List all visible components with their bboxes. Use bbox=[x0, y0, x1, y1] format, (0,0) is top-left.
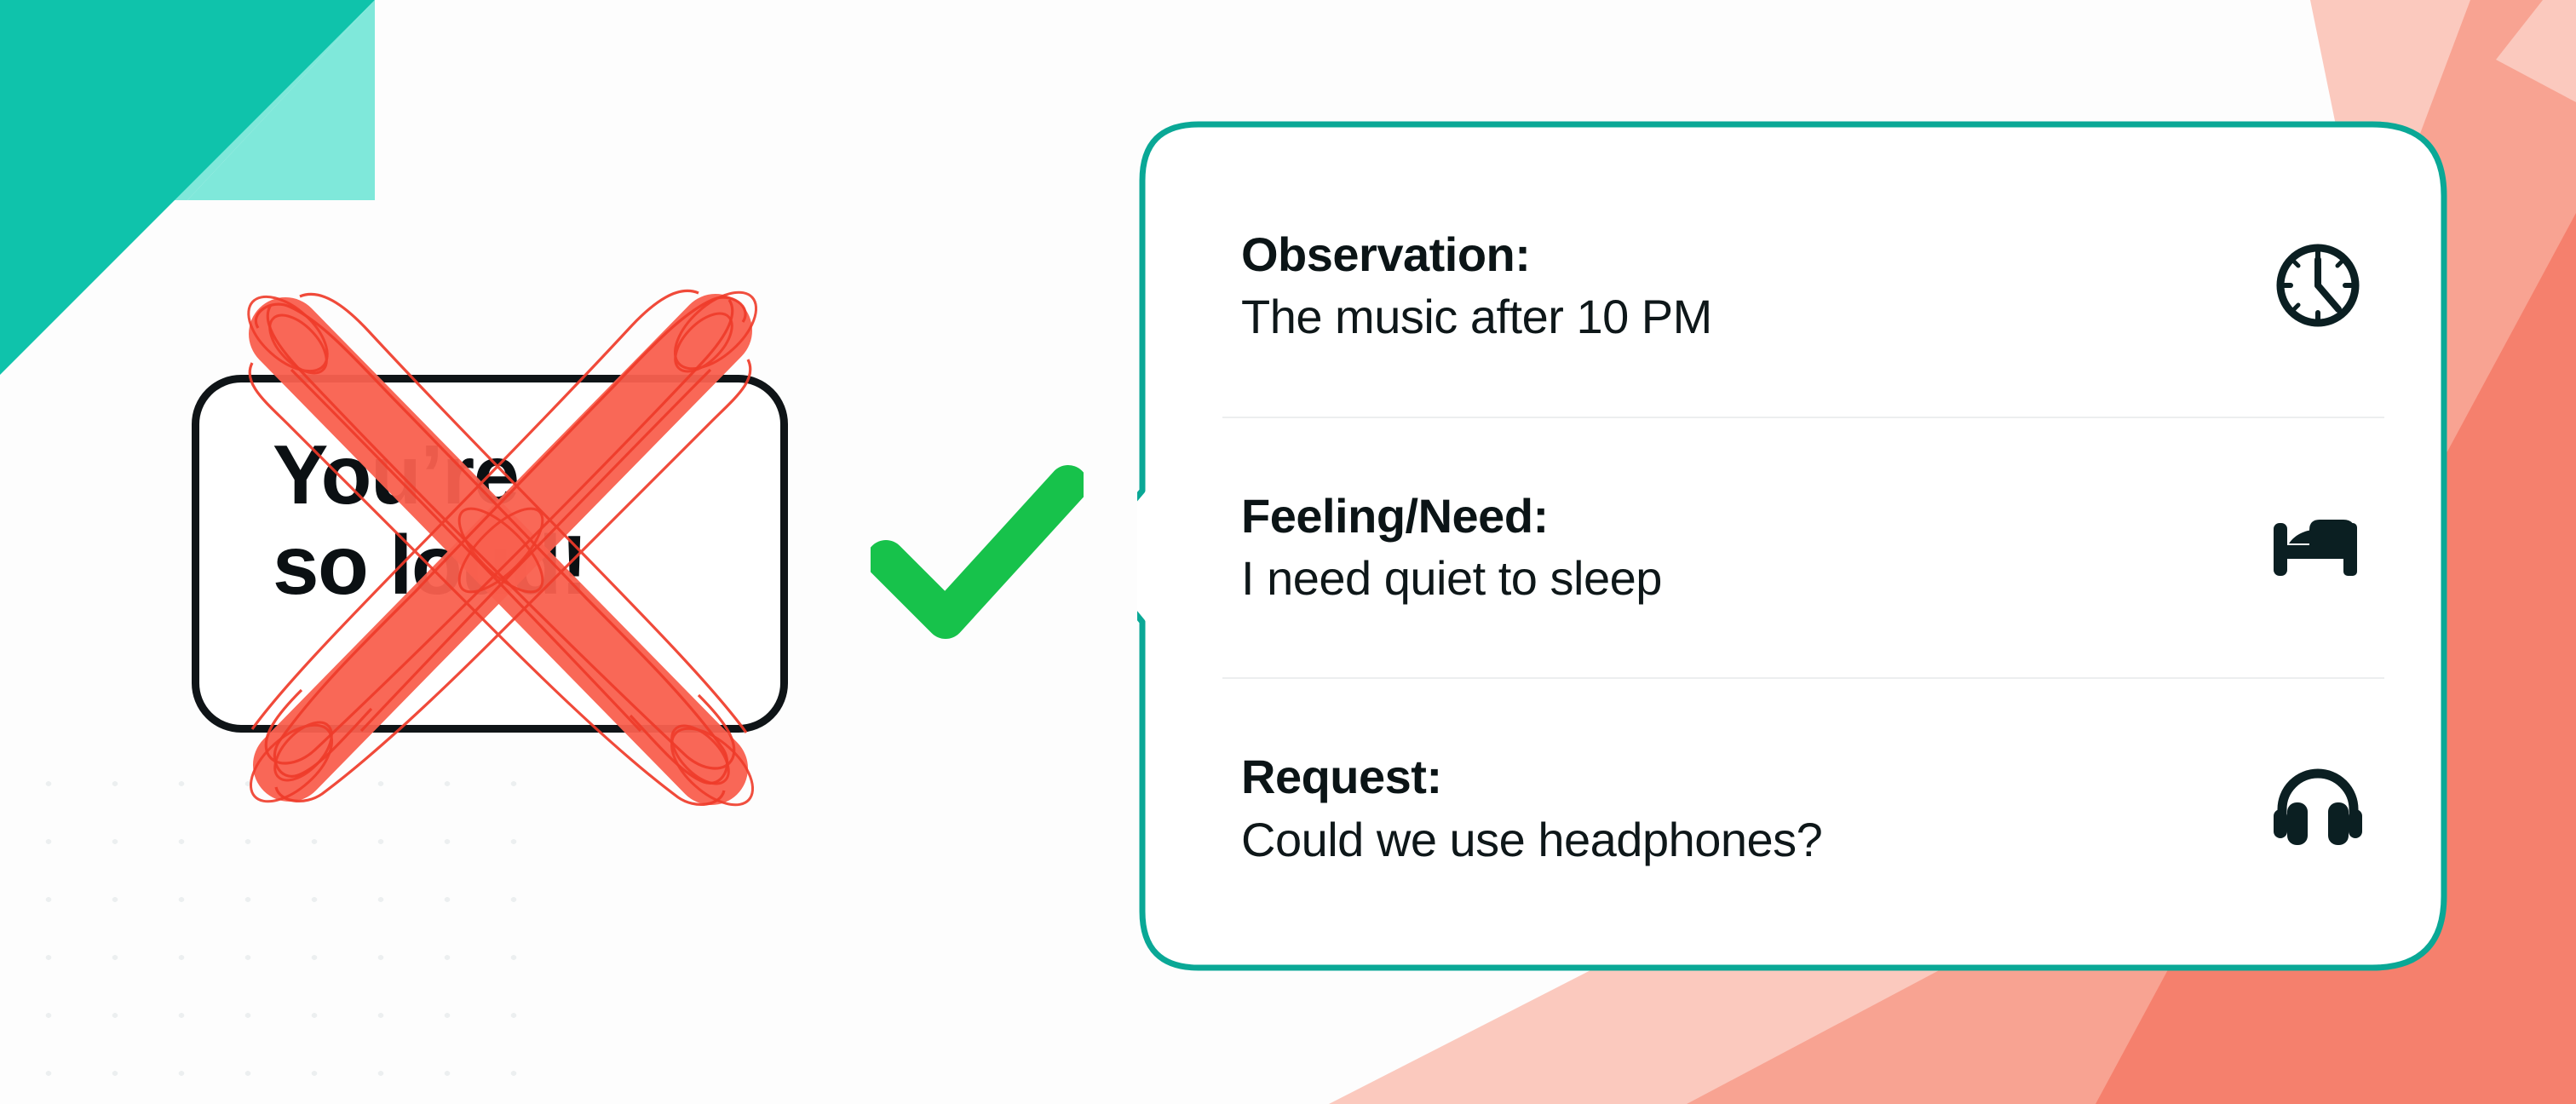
bad-example-block: You’re so loud! bbox=[170, 281, 818, 843]
feeling-need-label: Feeling/Need: bbox=[1241, 487, 1662, 544]
card-rows: Observation: The music after 10 PM bbox=[1205, 155, 2389, 939]
bad-speech-bubble-text: You’re so loud! bbox=[221, 430, 767, 611]
card-row-request: Request: Could we use headphones? bbox=[1205, 677, 2389, 939]
good-example-card: Observation: The music after 10 PM bbox=[1137, 119, 2449, 973]
infographic-canvas: You’re so loud! bbox=[0, 0, 2576, 1104]
green-check-icon bbox=[871, 464, 1084, 643]
row-text-request: Request: Could we use headphones? bbox=[1241, 748, 1822, 867]
request-label: Request: bbox=[1241, 748, 1822, 805]
row-text-feeling-need: Feeling/Need: I need quiet to sleep bbox=[1241, 487, 1662, 607]
clock-icon bbox=[2258, 238, 2378, 333]
row-text-observation: Observation: The music after 10 PM bbox=[1241, 226, 1712, 345]
bad-text-line-2: so loud! bbox=[273, 520, 767, 611]
headphones-icon bbox=[2258, 767, 2378, 850]
bed-icon bbox=[2258, 508, 2378, 586]
bad-text-line-1: You’re bbox=[273, 430, 767, 520]
observation-value: The music after 10 PM bbox=[1241, 288, 1712, 345]
card-row-feeling-need: Feeling/Need: I need quiet to sleep bbox=[1205, 417, 2389, 678]
card-row-observation: Observation: The music after 10 PM bbox=[1205, 155, 2389, 417]
request-value: Could we use headphones? bbox=[1241, 811, 1822, 868]
feeling-need-value: I need quiet to sleep bbox=[1241, 549, 1662, 607]
observation-label: Observation: bbox=[1241, 226, 1712, 283]
